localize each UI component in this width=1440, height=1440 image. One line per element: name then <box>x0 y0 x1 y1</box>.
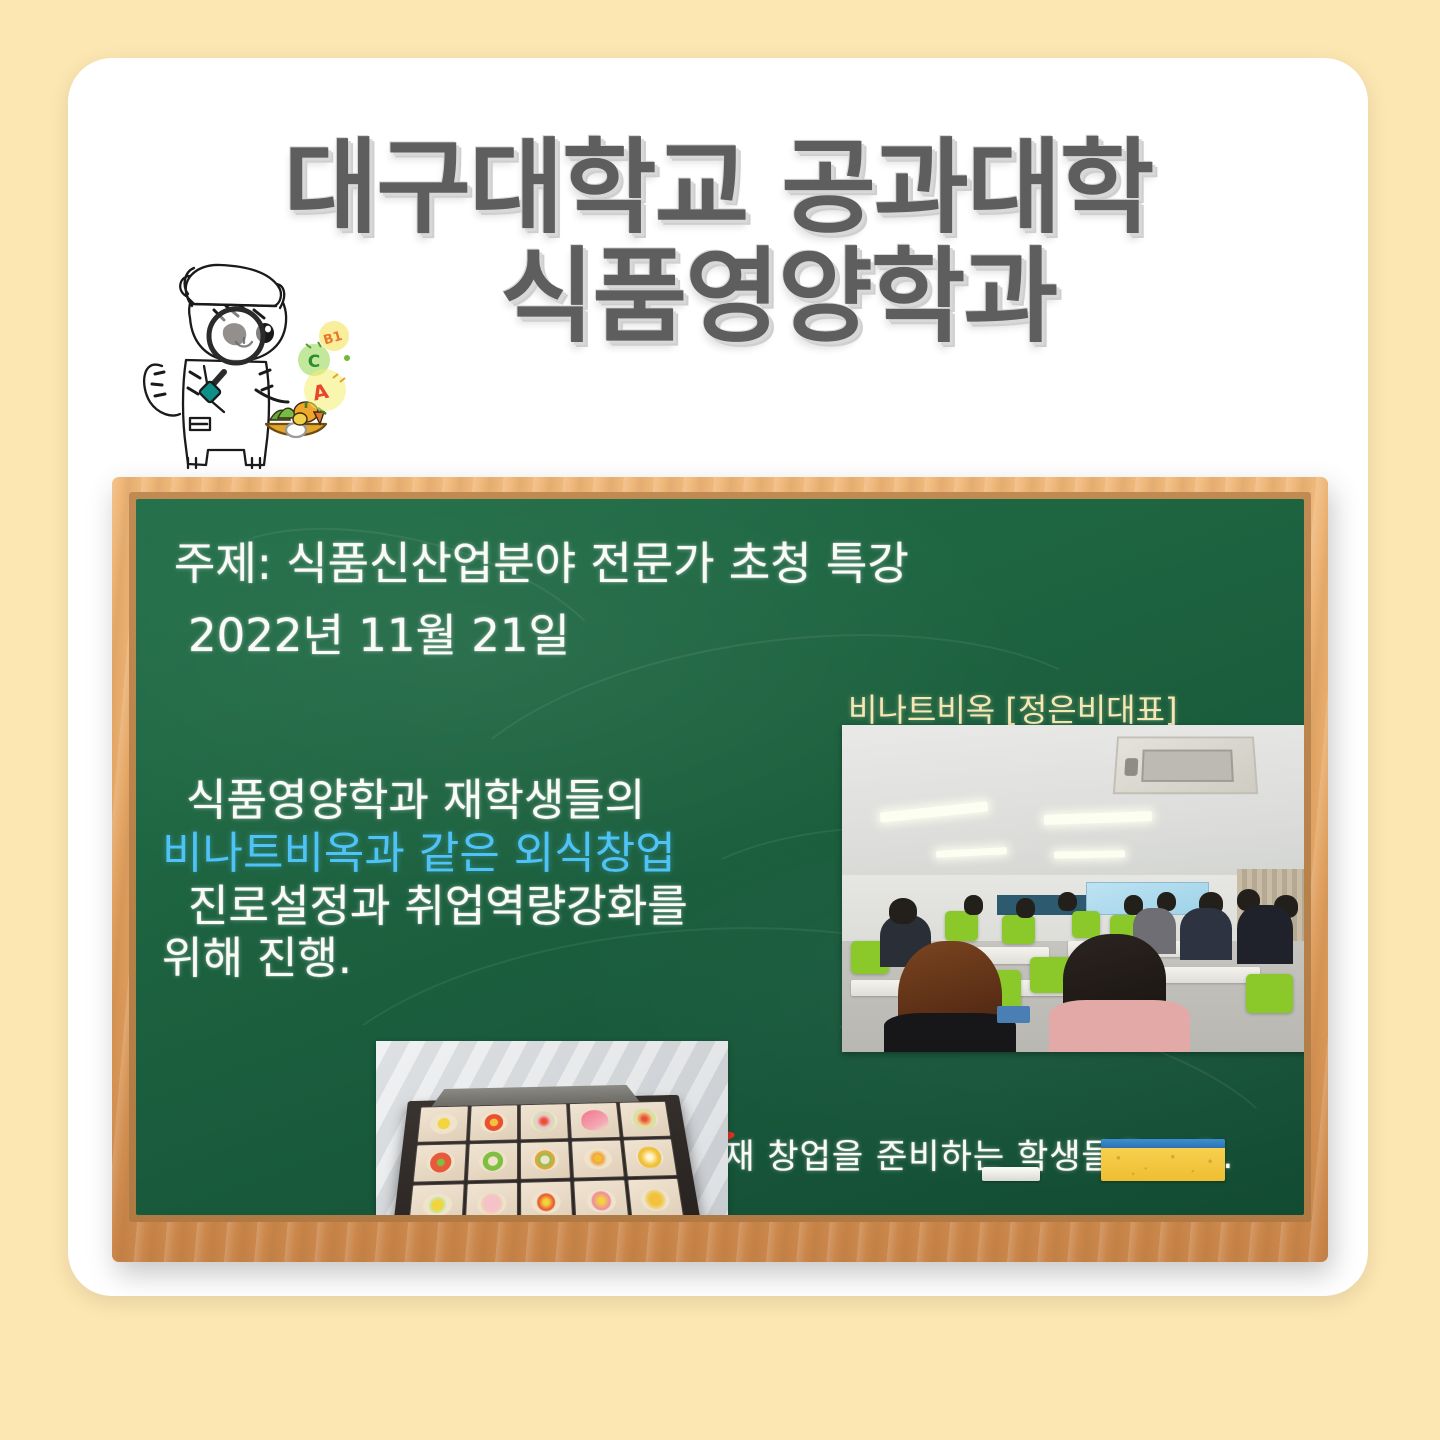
photo-gift-box <box>392 1095 701 1215</box>
photo-smartphone <box>997 1006 1030 1022</box>
tiger-mascot-icon: B1 C A <box>128 262 368 477</box>
photo-student <box>889 898 917 924</box>
rice-cake-cell <box>573 1179 629 1215</box>
lecture-hall-photo <box>842 725 1304 1052</box>
rice-cake-cell <box>571 1139 624 1179</box>
photo-student <box>1016 898 1035 918</box>
description-line-1: 식품영양학과 재학생들의 <box>162 775 802 828</box>
sponge-eraser-icon <box>1101 1139 1225 1181</box>
description-paragraph: 식품영양학과 재학생들의 비나트비옥과 같은 외식창업 진로설정과 취업역량강화… <box>162 775 802 986</box>
chalkboard: 주제: 식품신산업분야 전문가 초청 특강 2022년 11월 21일 비나트비… <box>112 477 1328 1262</box>
rice-cake-cell <box>520 1181 574 1215</box>
photo-rice-cake-grid <box>408 1101 684 1215</box>
white-chalk-icon <box>982 1167 1040 1181</box>
sponge-eraser-body <box>1101 1148 1225 1181</box>
rice-cake-cell <box>468 1104 517 1141</box>
rice-cake-cell <box>622 1138 677 1177</box>
photo-student <box>1237 905 1293 964</box>
rice-cake-cell <box>417 1105 468 1142</box>
rice-cake-cell <box>569 1102 620 1139</box>
photo-student <box>964 895 983 915</box>
photo-student <box>1180 908 1232 960</box>
svg-text:C: C <box>308 352 320 372</box>
chalkboard-wooden-frame: 주제: 식품신산업분야 전문가 초청 특강 2022년 11월 21일 비나트비… <box>112 477 1328 1262</box>
photo-chair <box>1246 974 1293 1013</box>
rice-cake-cell <box>627 1178 685 1215</box>
photo-chair <box>1002 915 1035 944</box>
rice-cake-cell <box>466 1142 517 1182</box>
lecture-date-line: 2022년 11월 21일 <box>188 599 570 664</box>
photo-chair <box>945 911 978 940</box>
rice-cake-cell <box>618 1101 671 1137</box>
rice-cake-cell <box>520 1140 571 1180</box>
description-line-2-highlight: 비나트비옥과 같은 외식창업 <box>162 828 802 881</box>
title-line-1: 대구대학교 공과대학 <box>68 136 1368 241</box>
photo-chair <box>1072 911 1100 937</box>
rice-cake-cell <box>408 1183 464 1215</box>
lecture-subject-line: 주제: 식품신산업분야 전문가 초청 특강 <box>174 527 909 592</box>
photo-foreground-student-right-body <box>1049 1000 1190 1052</box>
poster-card: 대구대학교 공과대학 식품영양학과 <box>68 58 1368 1296</box>
rice-cake-cell <box>413 1143 467 1183</box>
photo-ac-unit <box>1112 736 1257 794</box>
description-line-3: 진로설정과 취업역량강화를 <box>162 881 802 934</box>
rice-cake-cell <box>464 1182 518 1215</box>
photo-ceiling-light <box>1053 850 1124 858</box>
description-line-4: 위해 진행. <box>162 933 802 986</box>
sponge-eraser-top <box>1101 1139 1225 1148</box>
photo-student <box>1058 892 1077 912</box>
chalkboard-surface: 주제: 식품신산업분야 전문가 초청 특강 2022년 11월 21일 비나트비… <box>136 499 1304 1215</box>
rice-cake-cell <box>520 1103 569 1140</box>
rice-cake-box-photo <box>376 1041 728 1215</box>
